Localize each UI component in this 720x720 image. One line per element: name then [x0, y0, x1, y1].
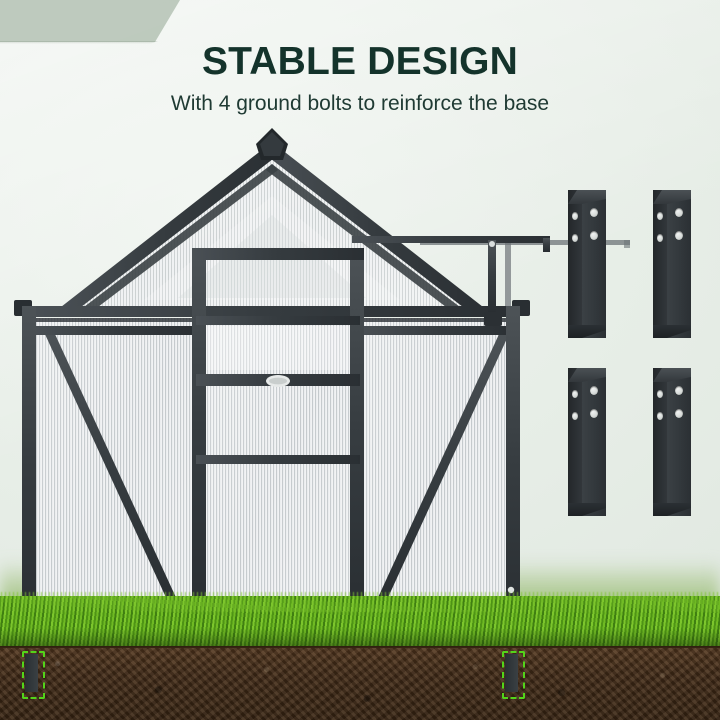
bolt-hole-1: [572, 212, 578, 220]
bolt-hole-2: [657, 412, 663, 420]
bolt-hole-4: [675, 231, 683, 240]
door-stile-left: [192, 248, 206, 642]
eave-beam: [28, 306, 520, 317]
bolt-hole-2: [572, 234, 578, 242]
roof-apex-finial-icon: [256, 128, 288, 160]
door-brand-badge-inner: [269, 378, 287, 385]
door-head-rail: [192, 248, 364, 260]
door-rail-3: [196, 455, 360, 464]
buried-ground-bolt-right-highlight: [502, 651, 525, 699]
buried-ground-bolt-left-highlight: [22, 651, 45, 699]
door-rail-1: [196, 316, 360, 325]
bolt-hole-1: [657, 390, 663, 398]
bolt-hole-3: [675, 386, 683, 395]
left-wall-top-rail: [34, 326, 196, 335]
bolt-hole-4: [590, 409, 598, 418]
ground-bolt-4: [653, 368, 691, 516]
bolt-hole-4: [675, 409, 683, 418]
bolt-hole-3: [590, 386, 598, 395]
ground-bolt-1: [568, 190, 606, 338]
bolt-hole-3: [590, 208, 598, 217]
bolt-hole-3: [675, 208, 683, 217]
soil-layer: [0, 648, 720, 720]
bolt-hole-2: [657, 234, 663, 242]
door-stile-right: [350, 248, 364, 642]
gable-glazing-panel: [64, 152, 480, 312]
ground-bolt-2: [653, 190, 691, 338]
bolt-hole-1: [572, 390, 578, 398]
bolt-hole-2: [572, 412, 578, 420]
product-feature-image: STABLE DESIGN With 4 ground bolts to rei…: [0, 0, 720, 720]
right-wall-top-rail: [360, 326, 518, 335]
bolt-hole-1: [657, 212, 663, 220]
ground-bolt-3: [568, 368, 606, 516]
bolt-hole-4: [590, 231, 598, 240]
grass-blades-overlay: [0, 592, 720, 612]
